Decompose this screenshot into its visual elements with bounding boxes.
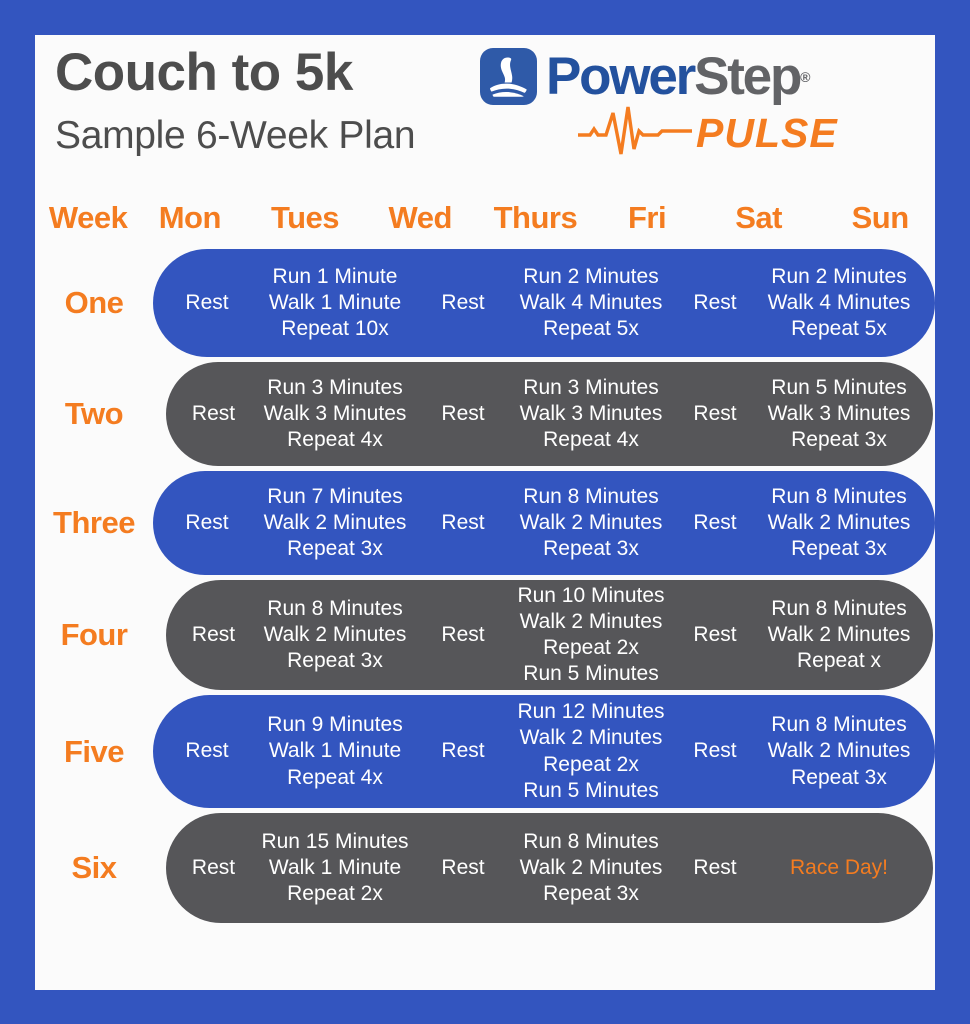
- column-header-fri: Fri: [602, 200, 692, 236]
- cell-line: Walk 2 Minutes: [264, 510, 407, 536]
- cell-two-fri: Rest: [665, 362, 765, 466]
- cell-line: Rest: [441, 510, 484, 536]
- cell-two-sat: Run 5 MinutesWalk 3 MinutesRepeat 3x: [765, 362, 913, 466]
- cell-five-sat: Run 8 MinutesWalk 2 MinutesRepeat 3x: [765, 695, 913, 808]
- week-pill-six: RestRun 15 MinutesWalk 1 MinuteRepeat 2x…: [166, 813, 933, 923]
- column-header-mon: Mon: [141, 200, 238, 236]
- cell-line: Walk 1 Minute: [269, 738, 401, 764]
- cell-line: Repeat 3x: [791, 536, 887, 562]
- cell-five-fri: Rest: [665, 695, 765, 808]
- cell-line: Run 8 Minutes: [771, 712, 906, 738]
- cell-three-wed: Rest: [409, 471, 517, 575]
- column-header-thurs: Thurs: [469, 200, 602, 236]
- week-label-two: Two: [35, 362, 153, 466]
- cell-line: Walk 2 Minutes: [520, 725, 663, 751]
- cell-three-tues: Run 7 MinutesWalk 2 MinutesRepeat 3x: [261, 471, 409, 575]
- cell-two-mon: Rest: [166, 362, 261, 466]
- cell-four-sun: Rest: [913, 580, 933, 690]
- cell-line: Run 5 Minutes: [523, 778, 658, 804]
- cell-line: Rest: [441, 290, 484, 316]
- cell-line: Rest: [192, 622, 235, 648]
- week-pill-one: RestRun 1 MinuteWalk 1 MinuteRepeat 10xR…: [153, 249, 935, 357]
- content-card: Couch to 5k Sample 6-Week Plan PowerStep…: [35, 35, 935, 990]
- cell-four-wed: Rest: [409, 580, 517, 690]
- cell-two-tues: Run 3 MinutesWalk 3 MinutesRepeat 4x: [261, 362, 409, 466]
- cell-line: Rest: [185, 510, 228, 536]
- cell-line: Run 3 Minutes: [523, 375, 658, 401]
- week-pill-two: RestRun 3 MinutesWalk 3 MinutesRepeat 4x…: [166, 362, 933, 466]
- cell-line: Run 8 Minutes: [771, 484, 906, 510]
- cell-six-sat: Race Day!: [765, 813, 913, 923]
- cell-line: Rest: [693, 510, 736, 536]
- cell-line: Run 5 Minutes: [523, 661, 658, 687]
- cell-line: Run 3 Minutes: [267, 375, 402, 401]
- cell-four-mon: Rest: [166, 580, 261, 690]
- cell-one-mon: Rest: [153, 249, 261, 357]
- page-title: Couch to 5k: [55, 45, 415, 101]
- cell-line: Walk 1 Minute: [269, 290, 401, 316]
- cell-line: Repeat 5x: [543, 316, 639, 342]
- cell-five-sun: Rest: [913, 695, 935, 808]
- week-label-one: One: [35, 249, 153, 357]
- table-row: OneRestRun 1 MinuteWalk 1 MinuteRepeat 1…: [35, 249, 935, 357]
- column-header-week: Week: [35, 200, 141, 236]
- cell-line: Walk 3 Minutes: [264, 401, 407, 427]
- logo-pulse-row: PULSE: [576, 105, 838, 161]
- cell-line: Rest: [693, 401, 736, 427]
- cell-line: Run 1 Minute: [273, 264, 398, 290]
- cell-six-mon: Rest: [166, 813, 261, 923]
- powerstep-pulse-logo: PowerStep® PULSE: [480, 48, 925, 173]
- cell-line: Walk 2 Minutes: [520, 855, 663, 881]
- cell-line: Repeat 3x: [791, 765, 887, 791]
- week-label-three: Three: [35, 471, 153, 575]
- week-label-six: Six: [35, 813, 153, 923]
- cell-line: Repeat 3x: [543, 881, 639, 907]
- cell-line: Run 10 Minutes: [517, 583, 664, 609]
- week-label-five: Five: [35, 695, 153, 808]
- cell-line: Run 8 Minutes: [523, 829, 658, 855]
- cell-five-mon: Rest: [153, 695, 261, 808]
- cell-line: Walk 4 Minutes: [520, 290, 663, 316]
- cell-line: Walk 3 Minutes: [520, 401, 663, 427]
- cell-line: Repeat 3x: [287, 648, 383, 674]
- cell-line: Rest: [693, 290, 736, 316]
- cell-line: Walk 4 Minutes: [768, 290, 911, 316]
- cell-line: Repeat 2x: [543, 635, 639, 661]
- cell-one-wed: Rest: [409, 249, 517, 357]
- cell-line: Rest: [693, 738, 736, 764]
- cell-one-thurs: Run 2 MinutesWalk 4 MinutesRepeat 5x: [517, 249, 665, 357]
- cell-two-thurs: Run 3 MinutesWalk 3 MinutesRepeat 4x: [517, 362, 665, 466]
- cell-five-thurs: Run 12 MinutesWalk 2 MinutesRepeat 2xRun…: [517, 695, 665, 808]
- cell-line: Rest: [441, 622, 484, 648]
- cell-one-sun: Rest: [913, 249, 935, 357]
- table-row: SixRestRun 15 MinutesWalk 1 MinuteRepeat…: [35, 813, 935, 923]
- cell-line: Rest: [192, 855, 235, 881]
- cell-line: Rest: [441, 401, 484, 427]
- cell-line: Rest: [185, 738, 228, 764]
- column-header-sat: Sat: [692, 200, 825, 236]
- cell-line: Run 8 Minutes: [267, 596, 402, 622]
- cell-three-mon: Rest: [153, 471, 261, 575]
- cell-six-sun: Rest: [913, 813, 933, 923]
- cell-line: Walk 2 Minutes: [768, 738, 911, 764]
- cell-three-fri: Rest: [665, 471, 765, 575]
- table-row: FourRestRun 8 MinutesWalk 2 MinutesRepea…: [35, 580, 935, 690]
- cell-line: Repeat 4x: [287, 765, 383, 791]
- cell-line: Run 8 Minutes: [523, 484, 658, 510]
- logo-wordmark-row: PowerStep®: [480, 48, 810, 105]
- table-body: OneRestRun 1 MinuteWalk 1 MinuteRepeat 1…: [35, 249, 935, 923]
- cell-line: Run 15 Minutes: [261, 829, 408, 855]
- cell-line: Repeat 2x: [543, 752, 639, 778]
- race-day-text: Race Day!: [790, 855, 888, 881]
- column-header-tues: Tues: [238, 200, 371, 236]
- cell-six-wed: Rest: [409, 813, 517, 923]
- title-block: Couch to 5k Sample 6-Week Plan: [55, 45, 415, 158]
- table-row: TwoRestRun 3 MinutesWalk 3 MinutesRepeat…: [35, 362, 935, 466]
- cell-line: Repeat 5x: [791, 316, 887, 342]
- ekg-pulse-line-icon: [576, 105, 694, 161]
- cell-one-sat: Run 2 MinutesWalk 4 MinutesRepeat 5x: [765, 249, 913, 357]
- cell-four-sat: Run 8 MinutesWalk 2 MinutesRepeat x: [765, 580, 913, 690]
- cell-line: Repeat 2x: [287, 881, 383, 907]
- cell-line: Run 7 Minutes: [267, 484, 402, 510]
- cell-six-thurs: Run 8 MinutesWalk 2 MinutesRepeat 3x: [517, 813, 665, 923]
- table-row: ThreeRestRun 7 MinutesWalk 2 MinutesRepe…: [35, 471, 935, 575]
- cell-six-fri: Rest: [665, 813, 765, 923]
- column-header-wed: Wed: [372, 200, 469, 236]
- cell-four-tues: Run 8 MinutesWalk 2 MinutesRepeat 3x: [261, 580, 409, 690]
- cell-line: Rest: [693, 855, 736, 881]
- footprint-arch-icon: [480, 48, 537, 105]
- cell-line: Walk 2 Minutes: [520, 609, 663, 635]
- table-header-row: WeekMonTuesWedThursFriSatSun: [35, 187, 935, 249]
- cell-one-fri: Rest: [665, 249, 765, 357]
- week-pill-four: RestRun 8 MinutesWalk 2 MinutesRepeat 3x…: [166, 580, 933, 690]
- cell-line: Rest: [693, 622, 736, 648]
- cell-line: Repeat x: [797, 648, 881, 674]
- cell-line: Repeat 4x: [287, 427, 383, 453]
- cell-five-wed: Rest: [409, 695, 517, 808]
- cell-line: Run 9 Minutes: [267, 712, 402, 738]
- cell-line: Repeat 3x: [791, 427, 887, 453]
- cell-line: Run 12 Minutes: [517, 699, 664, 725]
- cell-line: Walk 2 Minutes: [264, 622, 407, 648]
- cell-line: Walk 2 Minutes: [768, 510, 911, 536]
- cell-line: Rest: [441, 738, 484, 764]
- cell-line: Run 2 Minutes: [523, 264, 658, 290]
- logo-text-step: Step: [694, 50, 800, 103]
- registered-trademark-icon: ®: [800, 69, 810, 85]
- cell-two-sun: Rest: [913, 362, 933, 466]
- logo-text-pulse: PULSE: [696, 113, 838, 154]
- cell-line: Repeat 10x: [281, 316, 388, 342]
- cell-three-sat: Run 8 MinutesWalk 2 MinutesRepeat 3x: [765, 471, 913, 575]
- cell-line: Rest: [185, 290, 228, 316]
- week-pill-three: RestRun 7 MinutesWalk 2 MinutesRepeat 3x…: [153, 471, 935, 575]
- week-pill-five: RestRun 9 MinutesWalk 1 MinuteRepeat 4xR…: [153, 695, 935, 808]
- cell-three-thurs: Run 8 MinutesWalk 2 MinutesRepeat 3x: [517, 471, 665, 575]
- cell-one-tues: Run 1 MinuteWalk 1 MinuteRepeat 10x: [261, 249, 409, 357]
- cell-line: Rest: [192, 401, 235, 427]
- cell-two-wed: Rest: [409, 362, 517, 466]
- column-header-sun: Sun: [825, 200, 935, 236]
- cell-line: Walk 2 Minutes: [520, 510, 663, 536]
- cell-five-tues: Run 9 MinutesWalk 1 MinuteRepeat 4x: [261, 695, 409, 808]
- cell-line: Run 2 Minutes: [771, 264, 906, 290]
- page-subtitle: Sample 6-Week Plan: [55, 115, 415, 158]
- cell-line: Run 5 Minutes: [771, 375, 906, 401]
- cell-six-tues: Run 15 MinutesWalk 1 MinuteRepeat 2x: [261, 813, 409, 923]
- cell-line: Walk 2 Minutes: [768, 622, 911, 648]
- cell-four-fri: Rest: [665, 580, 765, 690]
- cell-line: Rest: [441, 855, 484, 881]
- cell-four-thurs: Run 10 MinutesWalk 2 MinutesRepeat 2xRun…: [517, 580, 665, 690]
- training-plan-table: WeekMonTuesWedThursFriSatSun OneRestRun …: [35, 187, 935, 928]
- poster-header: Couch to 5k Sample 6-Week Plan PowerStep…: [35, 35, 935, 185]
- logo-text-power: Power: [546, 50, 694, 103]
- cell-line: Repeat 3x: [543, 536, 639, 562]
- cell-line: Run 8 Minutes: [771, 596, 906, 622]
- cell-line: Walk 1 Minute: [269, 855, 401, 881]
- poster-canvas: Couch to 5k Sample 6-Week Plan PowerStep…: [0, 0, 970, 1024]
- cell-three-sun: Rest: [913, 471, 935, 575]
- cell-line: Repeat 3x: [287, 536, 383, 562]
- cell-line: Walk 3 Minutes: [768, 401, 911, 427]
- cell-line: Repeat 4x: [543, 427, 639, 453]
- week-label-four: Four: [35, 580, 153, 690]
- table-row: FiveRestRun 9 MinutesWalk 1 MinuteRepeat…: [35, 695, 935, 808]
